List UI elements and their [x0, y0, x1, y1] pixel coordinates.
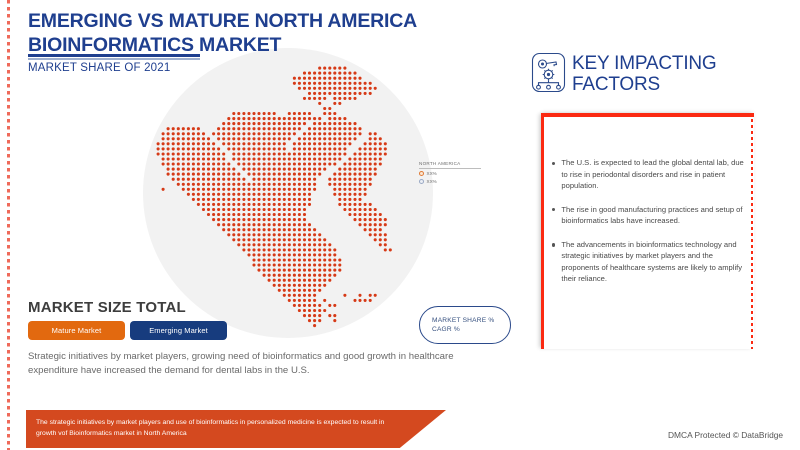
list-item-text: The rise in good manufacturing practices…: [561, 204, 748, 227]
key-impacting-factors-dotted-right-edge: [751, 113, 753, 349]
key-impacting-factors-box-top-border: [541, 113, 754, 117]
summary-paragraph: Strategic initiatives by market players,…: [28, 350, 480, 378]
orange-dot-icon: [419, 171, 424, 176]
bullet-icon: [552, 162, 555, 165]
left-dotted-rail: [7, 0, 10, 450]
infographic-page: EMERGING VS MATURE NORTH AMERICA BIOINFO…: [0, 0, 800, 450]
map-legend-value-mature: XX%: [427, 171, 437, 176]
key-impacting-factors-list: The U.S. is expected to lead the global …: [552, 157, 748, 297]
cagr-label: CAGR %: [432, 326, 510, 333]
map-legend-row-emerging: XX%: [419, 179, 481, 184]
map-legend-row-mature: XX%: [419, 171, 481, 176]
map-legend: NORTH AMERICA XX% XX%: [419, 161, 481, 184]
list-item: The U.S. is expected to lead the global …: [552, 157, 748, 192]
map-legend-title: NORTH AMERICA: [419, 161, 481, 169]
list-item-text: The advancements in bioinformatics techn…: [561, 239, 748, 285]
market-share-label: MARKET SHARE %: [432, 317, 510, 324]
list-item-text: The U.S. is expected to lead the global …: [561, 157, 748, 192]
market-share-badge: MARKET SHARE % CAGR %: [419, 306, 511, 344]
market-size-total-title: MARKET SIZE TOTAL: [28, 299, 186, 316]
bullet-icon: [552, 208, 555, 211]
bullet-icon: [552, 243, 555, 246]
blue-dot-icon: [419, 179, 424, 184]
key-gear-network-icon: [531, 52, 566, 93]
key-impacting-factors-title: KEY IMPACTING FACTORS: [572, 53, 737, 96]
list-item: The rise in good manufacturing practices…: [552, 204, 748, 227]
footer-attribution: DMCA Protected © DataBridge: [668, 430, 783, 440]
chip-mature-market[interactable]: Mature Market: [28, 321, 125, 340]
list-item: The advancements in bioinformatics techn…: [552, 239, 748, 285]
north-america-dot-map: [143, 48, 433, 338]
chip-emerging-market[interactable]: Emerging Market: [130, 321, 227, 340]
map-legend-value-emerging: XX%: [427, 179, 437, 184]
bottom-banner-text: The strategic initiatives by market play…: [36, 418, 386, 440]
